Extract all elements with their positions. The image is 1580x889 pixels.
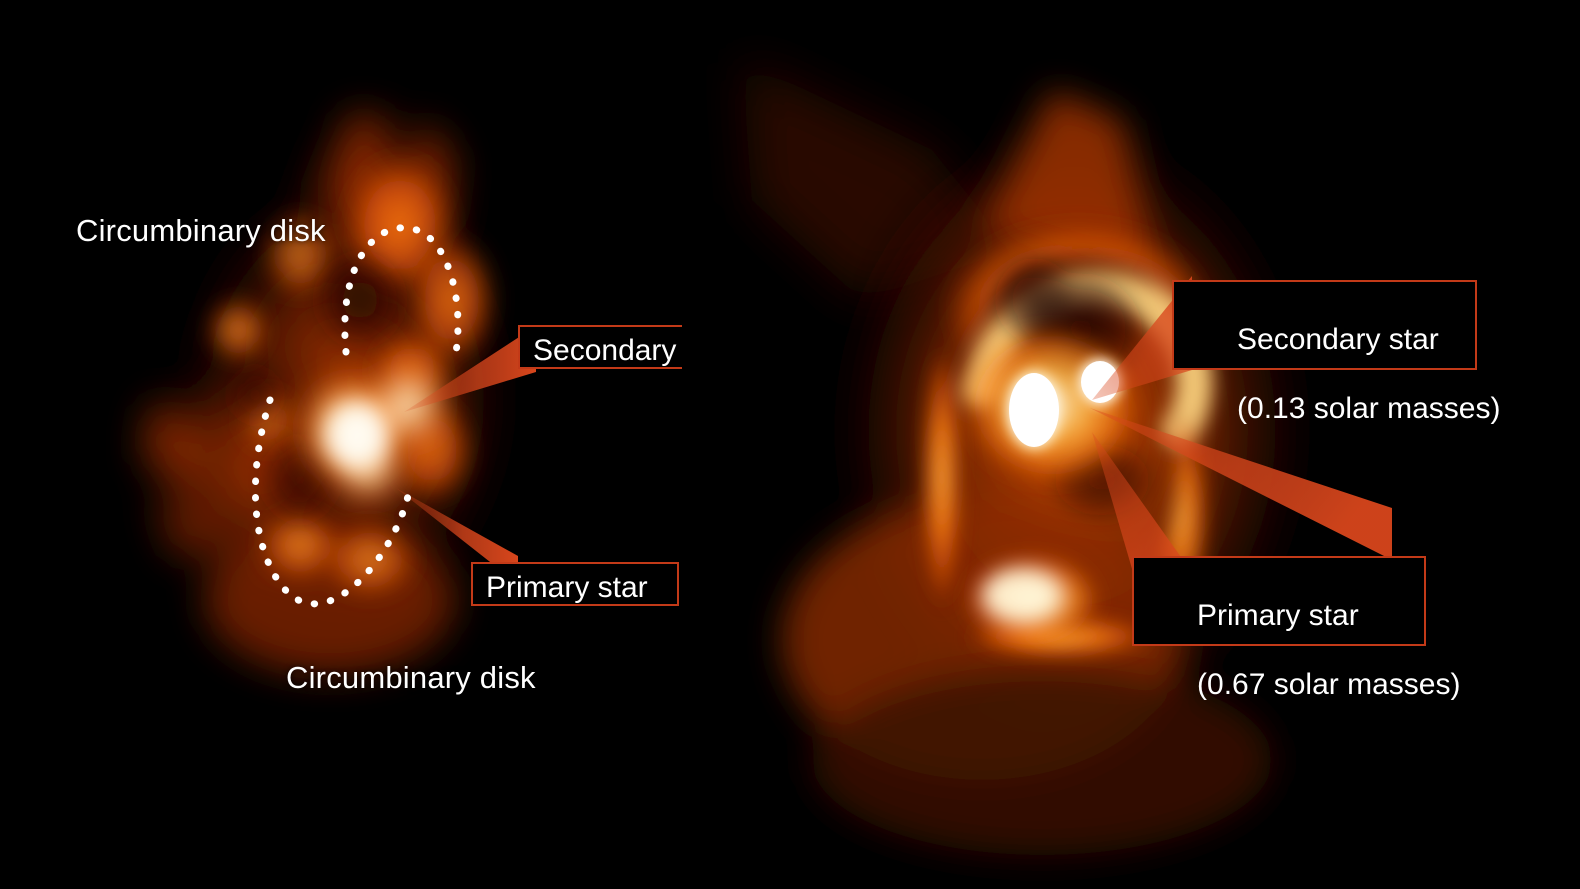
callout-secondary-star-left[interactable]: Secondary star — [518, 325, 682, 369]
callout-primary-line1: Primary star — [1197, 599, 1359, 632]
panel-wide-field: Circumbinary disk Circumbinary disk — [0, 0, 682, 889]
callout-secondary-line1: Secondary star — [1237, 323, 1439, 356]
callout-secondary-line2: (0.13 solar masses) — [1237, 392, 1500, 425]
panel-zoomed-view: Secondary star (0.13 solar masses) Prima… — [682, 0, 1580, 889]
callout-primary-line2: (0.67 solar masses) — [1197, 668, 1460, 701]
caption-circumbinary-disk-top: Circumbinary disk — [76, 214, 326, 248]
caption-circumbinary-disk-bottom: Circumbinary disk — [286, 661, 536, 695]
left-nebula-image — [0, 0, 682, 889]
callout-secondary-star-right[interactable]: Secondary star (0.13 solar masses) — [1172, 280, 1477, 370]
figure-canvas: Circumbinary disk Circumbinary disk — [0, 0, 1580, 889]
right-nebula-image — [682, 0, 1580, 889]
callout-primary-star-left[interactable]: Primary star — [471, 562, 679, 606]
callout-primary-star-right[interactable]: Primary star (0.67 solar masses) — [1132, 556, 1426, 646]
